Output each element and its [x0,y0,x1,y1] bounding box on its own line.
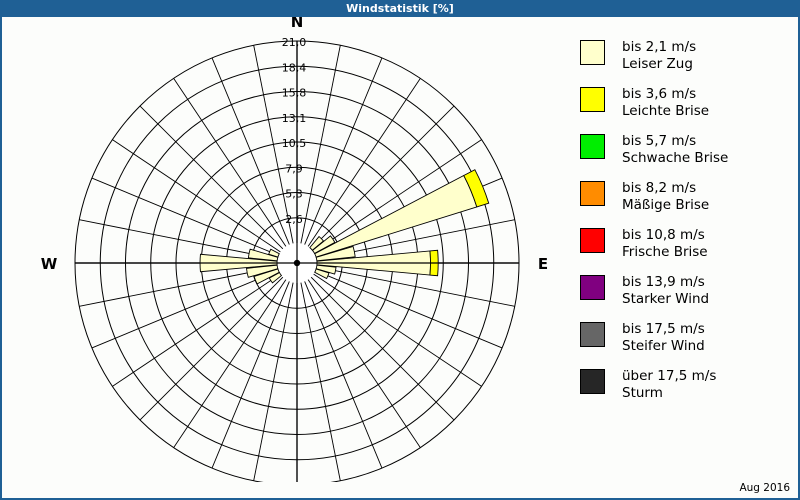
windrose-svg: 2,65,37,910,513,115,818,421,0 NESW [2,17,572,482]
petal-segment [315,176,477,258]
radial-tick-label: 10,5 [282,137,307,150]
list-item: bis 10,8 m/s Frische Brise [580,226,795,268]
radial-tick-label: 2,6 [285,213,303,226]
radial-tick-label: 21,0 [282,36,307,49]
legend-name: Starker Wind [622,291,709,308]
legend: bis 2,1 m/s Leiser Zug bis 3,6 m/s Leich… [580,38,795,414]
legend-name: Leiser Zug [622,56,696,73]
legend-name: Leichte Brise [622,103,709,120]
legend-speed: bis 10,8 m/s [622,227,708,244]
legend-swatch-maessige-brise [580,181,605,206]
legend-swatch-schwache-brise [580,134,605,159]
radial-tick-label: 15,8 [282,87,307,100]
legend-name: Sturm [622,385,716,402]
legend-speed: über 17,5 m/s [622,368,716,385]
list-item: bis 13,9 m/s Starker Wind [580,273,795,315]
legend-swatch-frische-brise [580,228,605,253]
legend-speed: bis 3,6 m/s [622,86,709,103]
legend-swatch-steifer-wind [580,322,605,347]
list-item: bis 8,2 m/s Mäßige Brise [580,179,795,221]
legend-speed: bis 5,7 m/s [622,133,728,150]
legend-swatch-leichte-brise [580,87,605,112]
window-titlebar: Windstatistik [%] [0,0,800,17]
list-item: bis 17,5 m/s Steifer Wind [580,320,795,362]
footer-date: Aug 2016 [739,482,790,494]
list-item: über 17,5 m/s Sturm [580,367,795,409]
radial-tick-label: 13,1 [282,112,307,125]
legend-swatch-starker-wind [580,275,605,300]
radial-tick-label: 18,4 [282,61,307,74]
list-item: bis 5,7 m/s Schwache Brise [580,132,795,174]
list-item: bis 2,1 m/s Leiser Zug [580,38,795,80]
legend-name: Schwache Brise [622,150,728,167]
legend-speed: bis 13,9 m/s [622,274,709,291]
legend-speed: bis 8,2 m/s [622,180,709,197]
legend-swatch-leiser-zug [580,40,605,65]
compass-label-n: N [291,17,304,31]
list-item: bis 3,6 m/s Leichte Brise [580,85,795,127]
radial-tick-label: 7,9 [285,162,303,175]
compass-label-w: W [41,255,58,273]
radial-tick-label: 5,3 [285,188,303,201]
legend-name: Mäßige Brise [622,197,709,214]
windrose-plot: 2,65,37,910,513,115,818,421,0 NESW [2,17,572,482]
legend-speed: bis 17,5 m/s [622,321,705,338]
legend-name: Steifer Wind [622,338,705,355]
radial-tick-labels: 2,65,37,910,513,115,818,421,0 [282,36,307,226]
window-title: Windstatistik [%] [346,2,454,15]
compass-label-e: E [538,255,548,273]
legend-speed: bis 2,1 m/s [622,39,696,56]
windrose-window: Windstatistik [%] 2,65,37,910,513,115,81… [0,0,800,500]
legend-swatch-sturm [580,369,605,394]
legend-name: Frische Brise [622,244,708,261]
